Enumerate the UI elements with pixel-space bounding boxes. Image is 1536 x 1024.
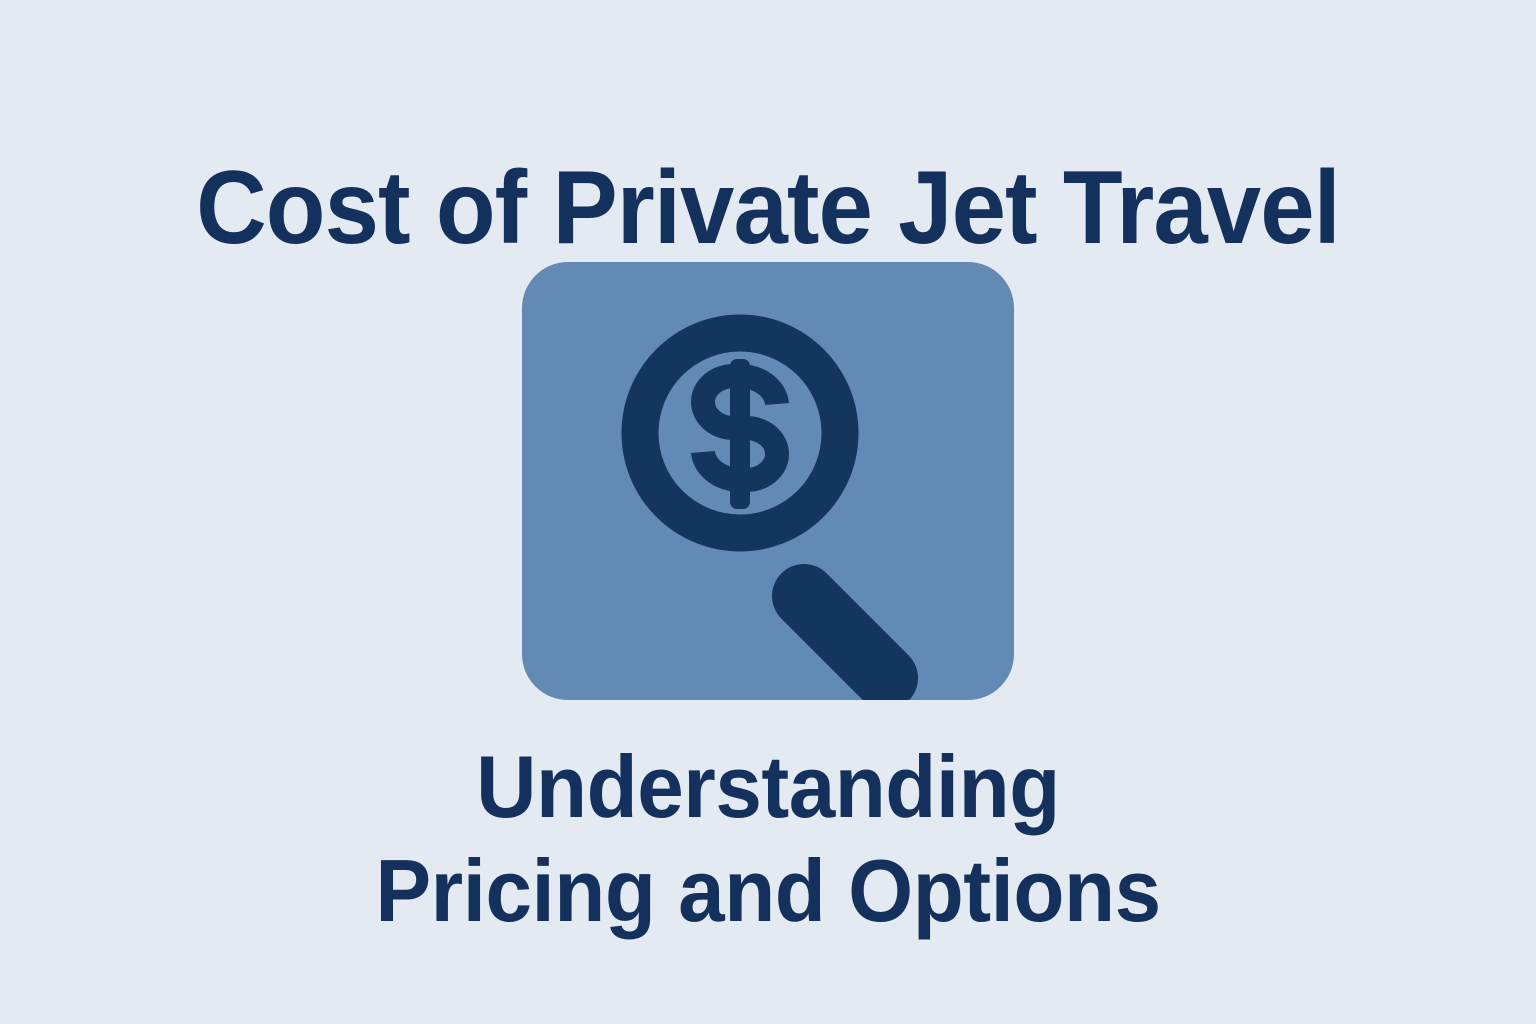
- subtitle-line-1: Understanding: [38, 735, 1497, 839]
- page-title: Cost of Private Jet Travel: [46, 154, 1490, 263]
- title-slide: Cost of Private Jet Travel Understanding…: [0, 0, 1536, 1024]
- magnifier-handle: [759, 551, 932, 700]
- magnifying-glass-dollar-icon-tile: [522, 262, 1014, 700]
- subtitle-line-2: Pricing and Options: [38, 839, 1497, 943]
- magnifying-glass-dollar-icon: [522, 262, 1014, 700]
- subtitle: Understanding Pricing and Options: [38, 735, 1497, 943]
- dollar-sign-glyph: [703, 359, 777, 509]
